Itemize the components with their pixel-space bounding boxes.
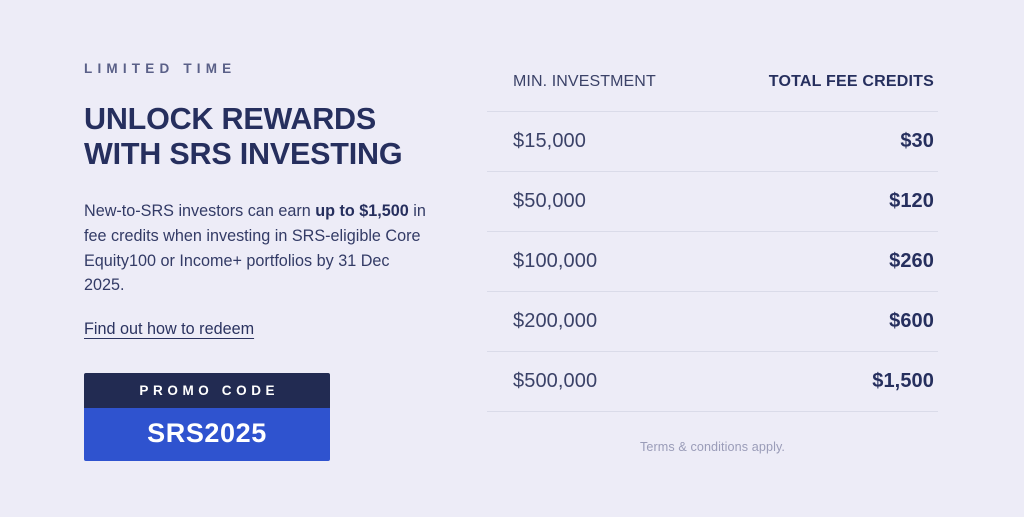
table-row: $100,000 $260 [487,232,938,292]
terms-and-conditions-note: Terms & conditions apply. [487,440,938,454]
fee-credits-table: MIN. INVESTMENT TOTAL FEE CREDITS $15,00… [487,74,938,411]
find-out-how-to-redeem-link[interactable]: Find out how to redeem [84,320,254,339]
promo-content-panel: LIMITED TIME UNLOCK REWARDS WITH SRS INV… [84,62,454,339]
table-row: $500,000 $1,500 [487,352,938,412]
cell-total-fee-credits: $1,500 [713,352,939,412]
column-header-min-investment: MIN. INVESTMENT [487,74,713,112]
cell-total-fee-credits: $260 [713,232,939,292]
page-title: UNLOCK REWARDS WITH SRS INVESTING [84,102,424,174]
table-header-row: MIN. INVESTMENT TOTAL FEE CREDITS [487,74,938,112]
eyebrow-label: LIMITED TIME [84,62,454,76]
cell-total-fee-credits: $120 [713,172,939,232]
table-row: $50,000 $120 [487,172,938,232]
cell-total-fee-credits: $30 [713,112,939,172]
cell-min-investment: $100,000 [487,232,713,292]
promo-description: New-to-SRS investors can earn up to $1,5… [84,199,434,298]
promo-code-label: PROMO CODE [84,373,330,408]
fee-credits-table-wrapper: MIN. INVESTMENT TOTAL FEE CREDITS $15,00… [487,74,938,454]
description-prefix: New-to-SRS investors can earn [84,202,315,220]
cell-min-investment: $200,000 [487,292,713,352]
table-body: $15,000 $30 $50,000 $120 $100,000 $260 $… [487,112,938,412]
cell-total-fee-credits: $600 [713,292,939,352]
table-header: MIN. INVESTMENT TOTAL FEE CREDITS [487,74,938,112]
table-row: $200,000 $600 [487,292,938,352]
column-header-total-fee-credits: TOTAL FEE CREDITS [713,74,939,112]
table-bottom-divider [487,411,938,412]
cell-min-investment: $500,000 [487,352,713,412]
srs-promo-banner: LIMITED TIME UNLOCK REWARDS WITH SRS INV… [0,0,1024,517]
cell-min-investment: $15,000 [487,112,713,172]
table-row: $15,000 $30 [487,112,938,172]
promo-code-value[interactable]: SRS2025 [84,408,330,461]
cell-min-investment: $50,000 [487,172,713,232]
promo-code-box[interactable]: PROMO CODE SRS2025 [84,373,330,461]
description-highlight: up to $1,500 [315,202,409,220]
